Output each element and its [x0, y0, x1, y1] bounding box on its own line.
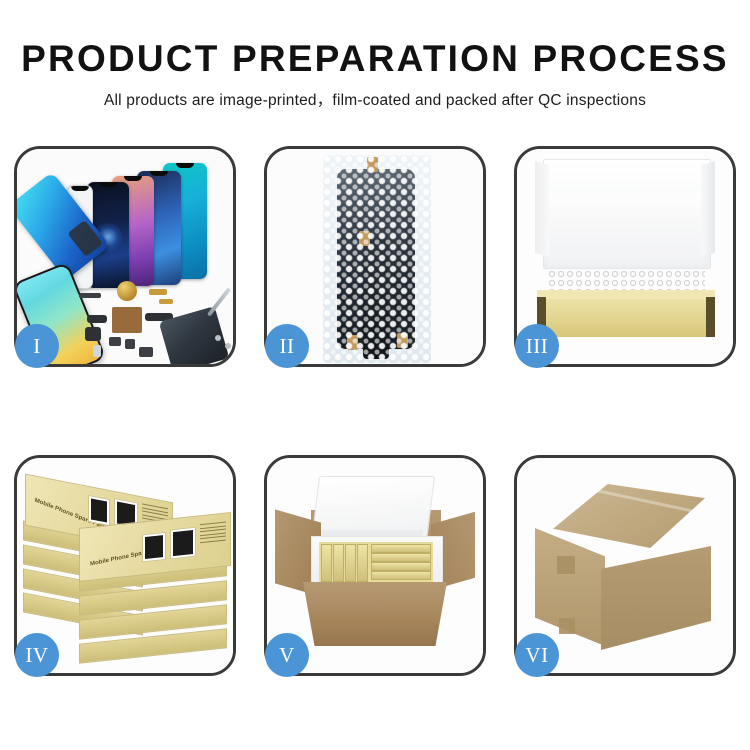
process-step-2: II	[264, 146, 486, 367]
box-stack: Mobile Phone Spare Parts Mobile Phone Sp…	[23, 478, 229, 658]
page-title: PRODUCT PREPARATION PROCESS	[0, 0, 750, 79]
sealed-carton	[535, 484, 721, 648]
notch-icon	[99, 182, 117, 187]
step-badge-4: IV	[15, 633, 59, 677]
packed-box	[371, 571, 431, 580]
part-icon	[125, 339, 135, 349]
spare-parts-cluster	[79, 279, 229, 364]
screen-thumbnail	[142, 532, 166, 563]
packed-box	[357, 544, 368, 582]
packed-box	[371, 562, 431, 571]
notch-icon	[124, 176, 142, 181]
screen-thumbnail	[170, 527, 196, 560]
part-icon	[139, 347, 153, 357]
flex-cable-icon	[87, 315, 107, 323]
header: PRODUCT PREPARATION PROCESS All products…	[0, 0, 750, 110]
packed-box	[371, 553, 431, 562]
kraft-box-tray	[537, 297, 715, 337]
screwdriver-icon	[207, 287, 231, 316]
product-preparation-infographic: PRODUCT PREPARATION PROCESS All products…	[0, 0, 750, 750]
carton-front-wall	[303, 582, 447, 646]
process-step-1: I	[14, 146, 236, 367]
box-flap-right	[701, 161, 715, 257]
step-badge-6: VI	[515, 633, 559, 677]
part-icon	[109, 337, 121, 346]
process-step-5: V	[264, 455, 486, 676]
foam-sheet	[548, 192, 704, 266]
coil-part-icon	[117, 281, 137, 301]
packed-box	[333, 544, 344, 582]
step-badge-1: I	[15, 324, 59, 368]
packed-box	[321, 544, 332, 582]
bubble-wrap-bag	[323, 155, 431, 363]
carton-top-face	[553, 484, 705, 548]
carton-tape-patch	[557, 556, 575, 574]
part-icon	[93, 345, 101, 357]
screw-icon	[225, 343, 231, 349]
packed-boxes-group	[319, 542, 433, 582]
step-badge-2: II	[265, 324, 309, 368]
flex-cable-icon	[85, 327, 101, 341]
foam-lid	[543, 159, 711, 269]
process-step-6: VI	[514, 455, 736, 676]
packed-box	[371, 544, 431, 553]
part-icon	[149, 289, 167, 295]
foam-box-lid	[311, 476, 435, 542]
step-badge-5: V	[265, 633, 309, 677]
notch-icon	[150, 171, 168, 176]
page-subtitle: All products are image-printed，film-coat…	[0, 79, 750, 110]
part-icon	[159, 299, 173, 304]
screen-thumbnail	[88, 495, 110, 526]
logic-board-icon	[112, 307, 142, 333]
carton-tape-patch	[559, 618, 575, 634]
box-flap-left	[535, 161, 549, 257]
process-step-grid: I II	[14, 146, 736, 736]
box-corner-right	[706, 297, 715, 337]
process-step-4: Mobile Phone Spare Parts Mobile Phone Sp…	[14, 455, 236, 676]
process-step-3: III	[514, 146, 736, 367]
packed-box	[345, 544, 356, 582]
notch-icon	[176, 163, 194, 168]
notch-icon	[71, 186, 89, 191]
part-icon	[79, 293, 101, 298]
step-badge-3: III	[515, 324, 559, 368]
screw-icon	[215, 335, 221, 341]
box-spec-lines	[200, 522, 226, 546]
carton-right-face	[601, 546, 711, 650]
bubble-texture	[323, 155, 431, 363]
